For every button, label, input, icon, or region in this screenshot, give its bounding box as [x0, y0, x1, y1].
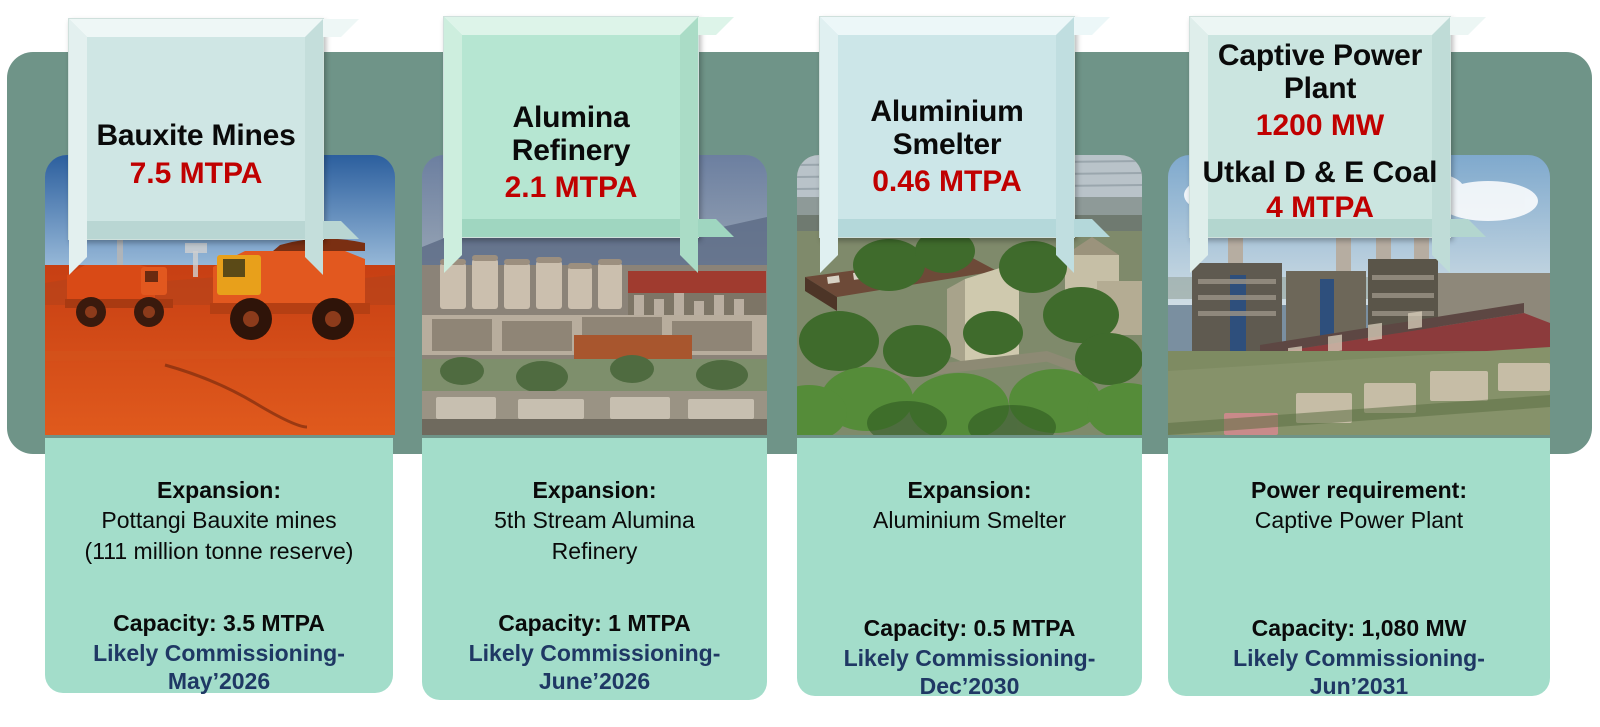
info-capacity: Capacity: 1,080 MW [1174, 614, 1544, 644]
info-capacity: Capacity: 0.5 MTPA [803, 614, 1136, 644]
plate-title: Bauxite Mines [79, 120, 313, 152]
info-spacer [1174, 536, 1544, 614]
plate-value-secondary: 4 MTPA [1200, 191, 1440, 224]
plate-title-secondary: Utkal D & E Coal [1200, 156, 1440, 189]
plate-captive-power-plant: Captive Power Plant 1200 MW Utkal D & E … [1189, 16, 1451, 238]
info-commissioning-line: June’2026 [428, 667, 761, 695]
info-desc-line: Aluminium Smelter [803, 505, 1136, 536]
info-panel-bauxite-mines: Expansion: Pottangi Bauxite mines (111 m… [45, 438, 393, 693]
info-label: Expansion: [428, 476, 761, 505]
info-commissioning-line: Likely Commissioning- [803, 644, 1136, 672]
info-spacer [51, 567, 387, 609]
plate-title: Alumina Refinery [454, 102, 688, 167]
info-spacer [428, 567, 761, 609]
infographic-stage: Bauxite Mines 7.5 MTPA Expansion: Pottan… [0, 0, 1600, 727]
plate-title: Aluminium Smelter [830, 96, 1064, 161]
info-commissioning-line: Likely Commissioning- [51, 639, 387, 667]
info-label: Power requirement: [1174, 476, 1544, 505]
plate-bauxite-mines: Bauxite Mines 7.5 MTPA [68, 18, 324, 240]
plate-value: 1200 MW [1200, 109, 1440, 142]
info-panel-captive-power-plant: Power requirement: Captive Power Plant C… [1168, 438, 1550, 696]
info-commissioning-line: Likely Commissioning- [428, 639, 761, 667]
info-desc-line: Pottangi Bauxite mines [51, 505, 387, 536]
info-capacity: Capacity: 1 MTPA [428, 609, 761, 639]
info-commissioning-line: Likely Commissioning- [1174, 644, 1544, 672]
info-panel-alumina-refinery: Expansion: 5th Stream Alumina Refinery C… [422, 438, 767, 700]
plate-alumina-refinery: Alumina Refinery 2.1 MTPA [443, 16, 699, 238]
info-commissioning-line: May’2026 [51, 667, 387, 695]
info-desc-line: Refinery [428, 536, 761, 567]
plate-value: 2.1 MTPA [454, 171, 688, 204]
info-capacity: Capacity: 3.5 MTPA [51, 609, 387, 639]
column-bauxite-mines: Bauxite Mines 7.5 MTPA Expansion: Pottan… [45, 0, 395, 727]
info-panel-aluminium-smelter: Expansion: Aluminium Smelter Capacity: 0… [797, 438, 1142, 696]
column-captive-power-plant: Captive Power Plant 1200 MW Utkal D & E … [1168, 0, 1550, 727]
plate-title: Captive Power Plant [1200, 40, 1440, 105]
info-commissioning-line: Jun’2031 [1174, 672, 1544, 700]
plate-value: 0.46 MTPA [830, 165, 1064, 198]
column-aluminium-smelter: Aluminium Smelter 0.46 MTPA Expansion: A… [797, 0, 1142, 727]
info-label: Expansion: [51, 476, 387, 505]
column-alumina-refinery: Alumina Refinery 2.1 MTPA Expansion: 5th… [422, 0, 767, 727]
info-desc-line: 5th Stream Alumina [428, 505, 761, 536]
plate-value: 7.5 MTPA [79, 157, 313, 190]
info-desc-line: Captive Power Plant [1174, 505, 1544, 536]
info-label: Expansion: [803, 476, 1136, 505]
info-spacer [803, 536, 1136, 614]
info-desc-line: (111 million tonne reserve) [51, 536, 387, 567]
info-commissioning-line: Dec’2030 [803, 672, 1136, 700]
plate-aluminium-smelter: Aluminium Smelter 0.46 MTPA [819, 16, 1075, 238]
